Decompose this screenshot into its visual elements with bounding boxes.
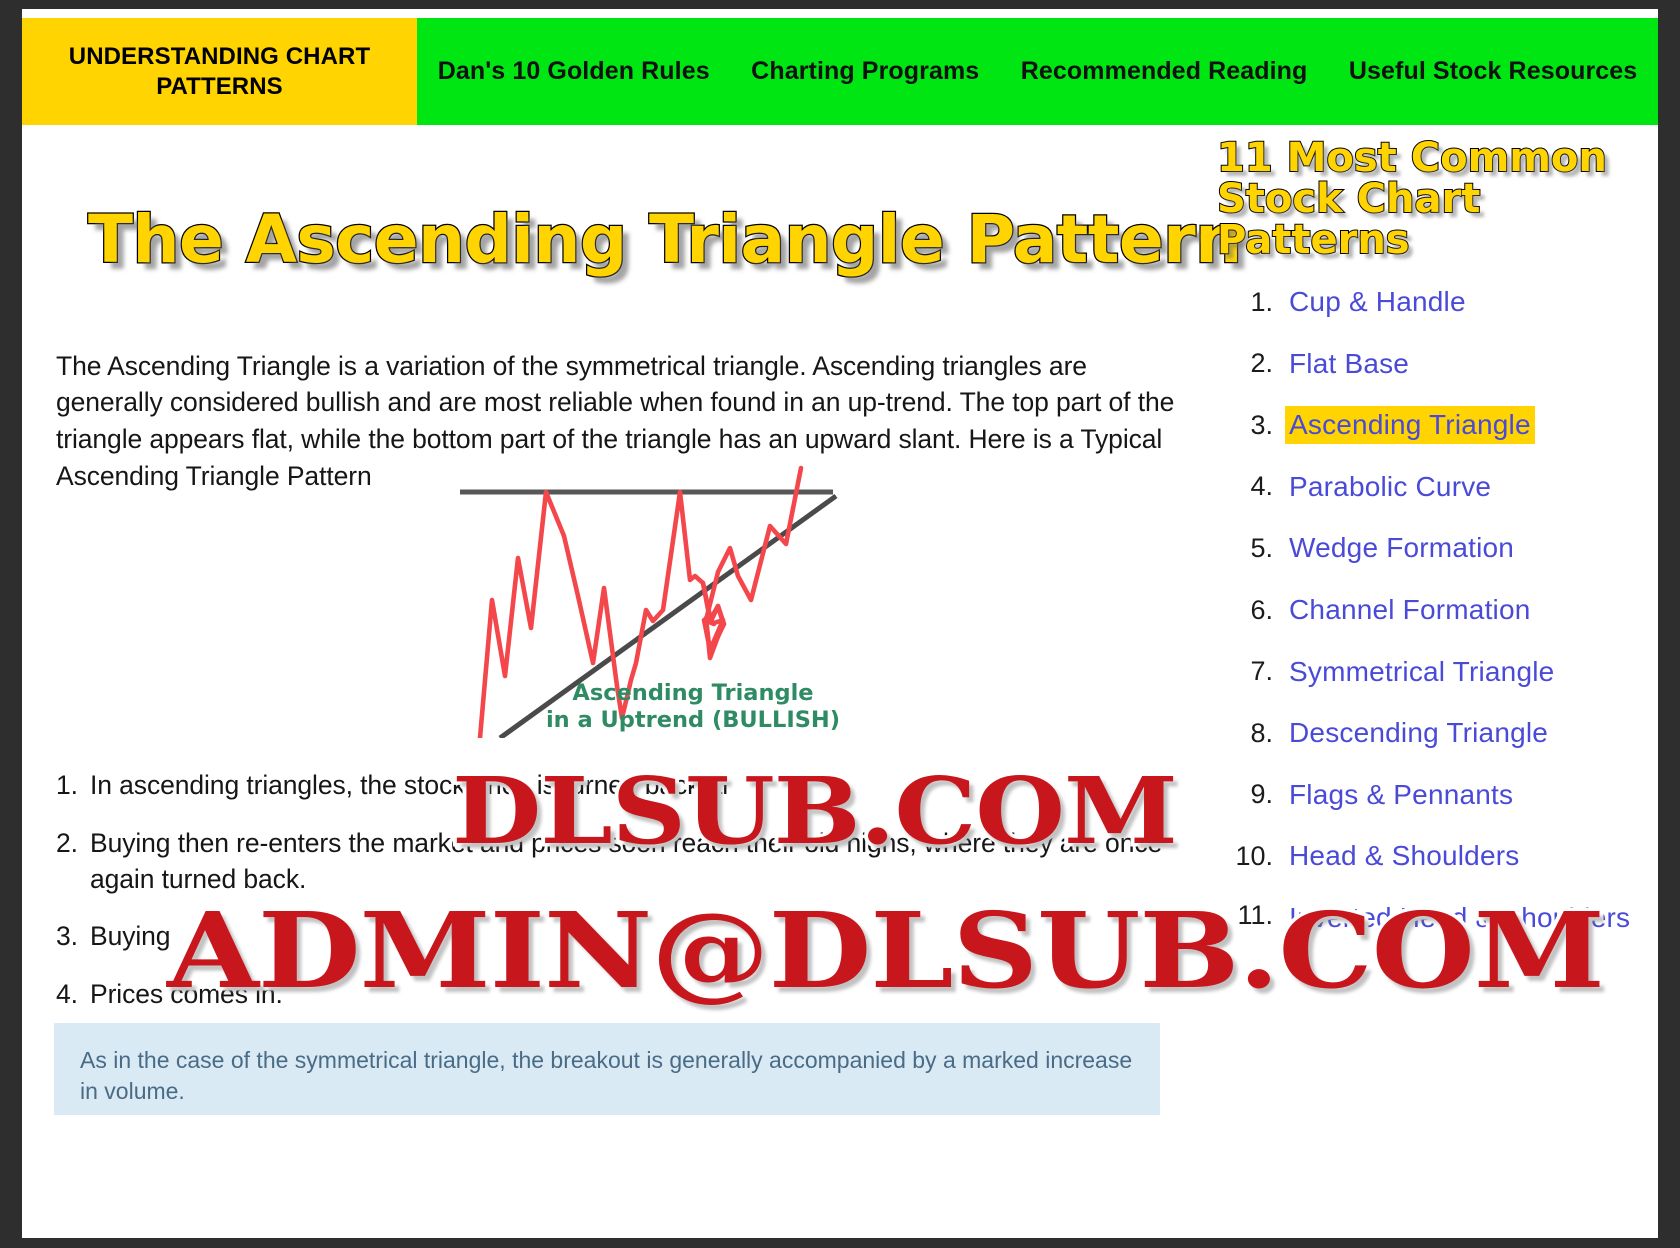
sidebar-item-number: 11.	[1217, 899, 1285, 931]
sidebar-item-cup-and-handle[interactable]: 1. Cup & Handle	[1217, 283, 1647, 321]
nav-item-label: Useful Stock Resources	[1349, 56, 1637, 87]
figure-caption: Ascending Triangle in a Uptrend (BULLISH…	[543, 680, 843, 733]
sidebar-item-number: 8.	[1217, 717, 1285, 749]
sidebar-item-channel-formation[interactable]: 6. Channel Formation	[1217, 591, 1647, 629]
sidebar-item-label[interactable]: Cup & Handle	[1285, 283, 1470, 321]
nav-item-label: Recommended Reading	[1021, 56, 1308, 87]
main-column: The Ascending Triangle Pattern The Ascen…	[38, 128, 1213, 1238]
sidebar-item-number: 10.	[1217, 840, 1285, 872]
figure-caption-line-2: in a Uptrend (BULLISH)	[543, 707, 843, 734]
list-item-number: 4.	[56, 977, 90, 1013]
sidebar-title: 11 Most Common Stock Chart Patterns	[1217, 138, 1637, 260]
sidebar-item-ascending-triangle[interactable]: 3. Ascending Triangle	[1217, 406, 1647, 444]
list-item: 1. In ascending triangles, the stock pri…	[56, 768, 1186, 804]
list-item: 3. Buying	[56, 919, 1186, 955]
content-area: The Ascending Triangle Pattern The Ascen…	[22, 128, 1658, 1238]
main-navigation: UNDERSTANDING CHART PATTERNS Dan's 10 Go…	[22, 18, 1658, 125]
list-item-number: 1.	[56, 768, 90, 804]
nav-item-recommended-reading[interactable]: Recommended Reading	[1000, 18, 1328, 125]
list-item: 4. Prices comes in.	[56, 977, 1186, 1013]
sidebar-item-parabolic-curve[interactable]: 4. Parabolic Curve	[1217, 468, 1647, 506]
sidebar-item-number: 6.	[1217, 594, 1285, 626]
pattern-characteristics-list: 1. In ascending triangles, the stock pri…	[56, 768, 1186, 1035]
list-item-text: Buying then re-enters the market and pri…	[90, 826, 1186, 898]
list-item-number: 2.	[56, 826, 90, 898]
sidebar-item-symmetrical-triangle[interactable]: 7. Symmetrical Triangle	[1217, 653, 1647, 691]
nav-item-label: Dan's 10 Golden Rules	[438, 56, 710, 87]
sidebar-item-label[interactable]: Parabolic Curve	[1285, 468, 1495, 506]
sidebar-item-label[interactable]: Wedge Formation	[1285, 529, 1518, 567]
sidebar-item-label[interactable]: Head & Shoulders	[1285, 837, 1523, 875]
sidebar-item-number: 9.	[1217, 778, 1285, 810]
sidebar-item-number: 5.	[1217, 532, 1285, 564]
sidebar-item-label[interactable]: Ascending Triangle	[1285, 406, 1535, 444]
sidebar-item-number: 1.	[1217, 286, 1285, 318]
list-item: 2. Buying then re-enters the market and …	[56, 826, 1186, 898]
volume-note-callout: As in the case of the symmetrical triang…	[54, 1023, 1160, 1115]
sidebar-item-head-and-shoulders[interactable]: 10. Head & Shoulders	[1217, 837, 1647, 875]
figure-caption-line-1: Ascending Triangle	[543, 680, 843, 707]
list-item-text: In ascending triangles, the stock price …	[90, 768, 1186, 804]
list-item-number: 3.	[56, 919, 90, 955]
nav-item-charting-programs[interactable]: Charting Programs	[730, 18, 1000, 125]
list-item-text: Buying	[90, 919, 1186, 955]
sidebar-item-label[interactable]: Symmetrical Triangle	[1285, 653, 1558, 691]
sidebar-item-number: 7.	[1217, 655, 1285, 687]
sidebar-item-descending-triangle[interactable]: 8. Descending Triangle	[1217, 714, 1647, 752]
sidebar-pattern-list: 1. Cup & Handle 2. Flat Base 3. Ascendin…	[1217, 283, 1647, 961]
nav-item-dans-10-golden-rules[interactable]: Dan's 10 Golden Rules	[417, 18, 730, 125]
sidebar-item-label[interactable]: Channel Formation	[1285, 591, 1535, 629]
sidebar-item-flags-and-pennants[interactable]: 9. Flags & Pennants	[1217, 776, 1647, 814]
sidebar-item-number: 4.	[1217, 470, 1285, 502]
page-title: The Ascending Triangle Pattern	[88, 207, 1242, 273]
sidebar-item-label[interactable]: Flags & Pennants	[1285, 776, 1517, 814]
nav-item-understanding-chart-patterns[interactable]: UNDERSTANDING CHART PATTERNS	[22, 18, 417, 125]
sidebar-item-number: 2.	[1217, 347, 1285, 379]
sidebar-item-label[interactable]: Flat Base	[1285, 345, 1413, 383]
sidebar-item-label[interactable]: Descending Triangle	[1285, 714, 1552, 752]
nav-item-useful-stock-resources[interactable]: Useful Stock Resources	[1328, 18, 1658, 125]
sidebar-item-inverted-head-and-shoulders[interactable]: 11. Inverted Head & Shoulders	[1217, 899, 1647, 937]
nav-item-label: Charting Programs	[751, 56, 979, 87]
sidebar-item-label[interactable]: Inverted Head & Shoulders	[1285, 899, 1634, 937]
sidebar-item-wedge-formation[interactable]: 5. Wedge Formation	[1217, 529, 1647, 567]
list-item-text: Prices comes in.	[90, 977, 1186, 1013]
nav-item-label: UNDERSTANDING CHART PATTERNS	[32, 42, 407, 101]
sidebar-item-number: 3.	[1217, 409, 1285, 441]
page-card: UNDERSTANDING CHART PATTERNS Dan's 10 Go…	[22, 9, 1658, 1238]
sidebar: 11 Most Common Stock Chart Patterns 1. C…	[1217, 128, 1647, 1238]
sidebar-item-flat-base[interactable]: 2. Flat Base	[1217, 345, 1647, 383]
